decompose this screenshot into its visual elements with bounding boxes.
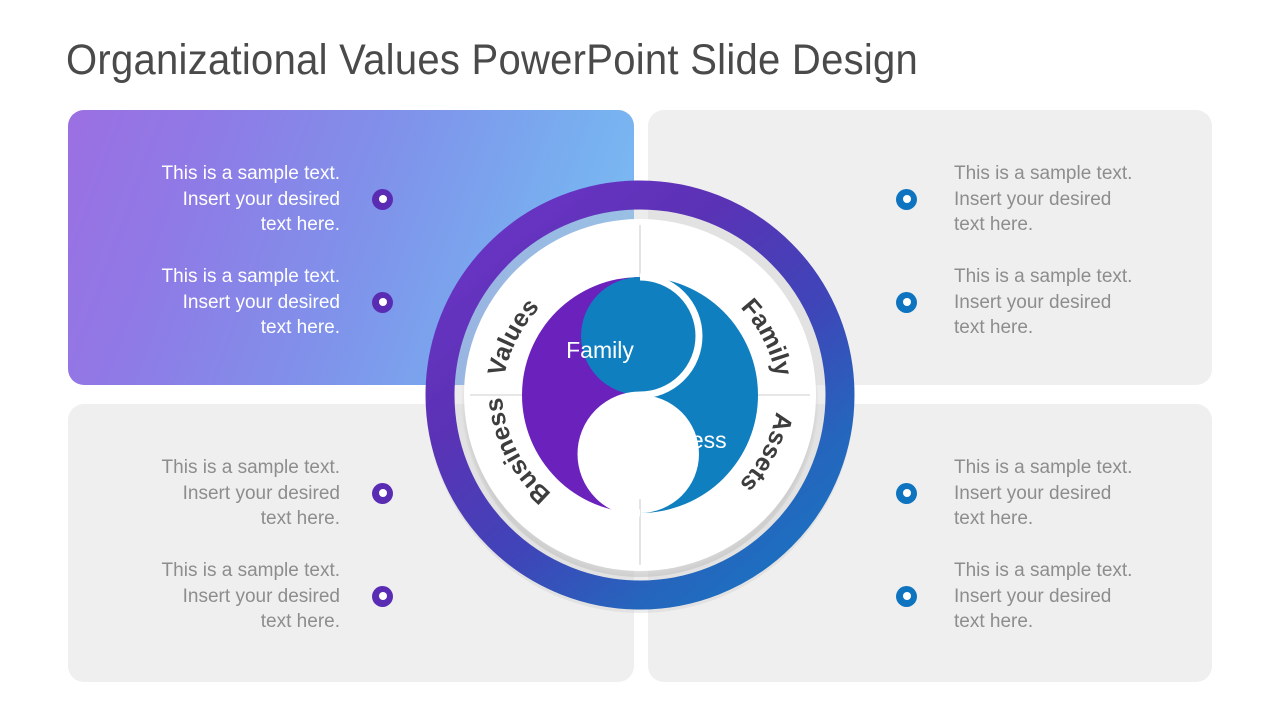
list-item[interactable]: This is a sample text. Insert your desir… (108, 455, 393, 532)
list-item[interactable]: This is a sample text. Insert your desir… (896, 558, 1186, 635)
page-title: Organizational Values PowerPoint Slide D… (66, 36, 1089, 85)
list-item[interactable]: This is a sample text. Insert your desir… (896, 455, 1186, 532)
slide-canvas: Organizational Values PowerPoint Slide D… (0, 0, 1280, 720)
organizational-values-diagram: Family Business Values Family Business A… (418, 173, 862, 617)
list-item-text: This is a sample text. Insert your desir… (108, 455, 340, 532)
list-item-text: This is a sample text. Insert your desir… (954, 264, 1184, 341)
list-item-text: This is a sample text. Insert your desir… (108, 558, 340, 635)
core-label-family: Family (566, 337, 634, 363)
bullet-dot-icon (372, 483, 393, 504)
list-item-text: This is a sample text. Insert your desir… (954, 455, 1184, 532)
list-item[interactable]: This is a sample text. Insert your desir… (108, 558, 393, 635)
bullet-dot-icon (896, 292, 917, 313)
list-item-text: This is a sample text. Insert your desir… (108, 264, 340, 341)
list-item-text: This is a sample text. Insert your desir… (108, 161, 340, 238)
bullet-dot-icon (372, 292, 393, 313)
bullet-dot-icon (372, 586, 393, 607)
list-item-text: This is a sample text. Insert your desir… (954, 558, 1184, 635)
bullet-dot-icon (896, 189, 917, 210)
core-label-business: Business (633, 427, 726, 453)
list-item[interactable]: This is a sample text. Insert your desir… (896, 161, 1186, 238)
list-item[interactable]: This is a sample text. Insert your desir… (896, 264, 1186, 341)
bullet-dot-icon (896, 483, 917, 504)
list-item-text: This is a sample text. Insert your desir… (954, 161, 1184, 238)
list-item[interactable]: This is a sample text. Insert your desir… (108, 161, 393, 238)
list-item[interactable]: This is a sample text. Insert your desir… (108, 264, 393, 341)
bullet-dot-icon (372, 189, 393, 210)
bullet-dot-icon (896, 586, 917, 607)
